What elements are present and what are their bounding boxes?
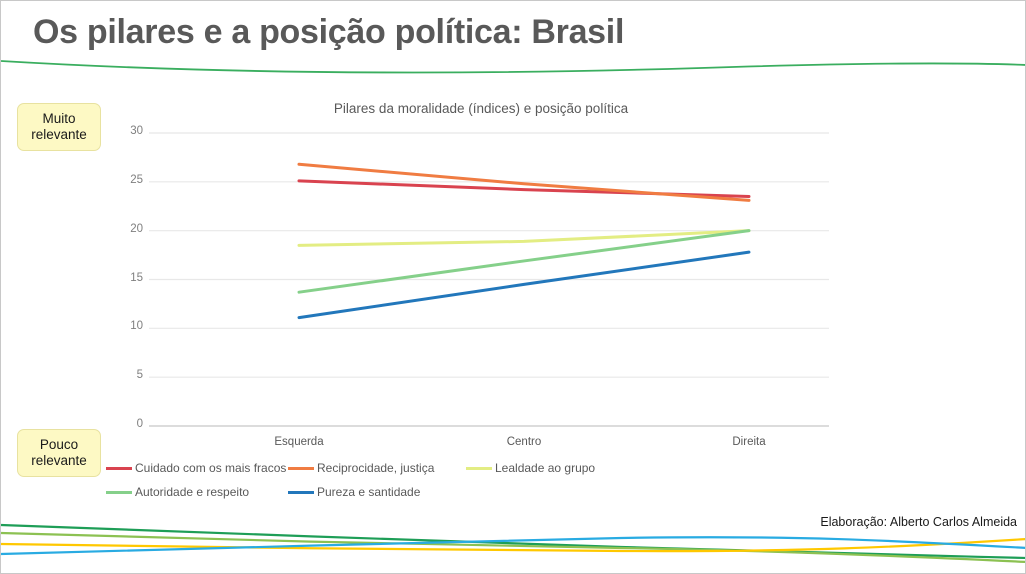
slide-canvas: Os pilares e a posição política: Brasil … [0,0,1026,574]
y-axis-tick-label: 30 [109,125,143,137]
footer-decorative-waves [1,501,1026,574]
legend-label-2: Lealdade ao grupo [495,461,595,475]
legend-item-3[interactable]: Autoridade e respeito [106,485,249,499]
legend-item-2[interactable]: Lealdade ao grupo [466,461,595,475]
legend-item-1[interactable]: Reciprocidade, justiça [288,461,434,475]
legend-swatch-4 [288,491,314,494]
credit-text: Elaboração: Alberto Carlos Almeida [820,515,1017,529]
page-title: Os pilares e a posição política: Brasil [33,13,624,52]
legend-row: Autoridade e respeitoPureza e santidade [106,482,726,502]
x-axis-tick-label-esquerda: Esquerda [239,436,359,448]
legend-swatch-2 [466,467,492,470]
callout-muito-relevante-line2: relevante [31,127,87,143]
x-axis-tick-label-centro: Centro [464,436,584,448]
legend-label-0: Cuidado com os mais fracos [135,461,286,475]
callout-muito-relevante-line1: Muito [31,111,87,127]
legend-label-3: Autoridade e respeito [135,485,249,499]
y-axis-tick-label: 10 [109,320,143,332]
chart-gridlines [149,133,829,426]
legend-item-0[interactable]: Cuidado com os mais fracos [106,461,286,475]
line-chart: Pilares da moralidade (índices) e posiçã… [111,93,851,505]
legend-row: Cuidado com os mais fracosReciprocidade,… [106,458,726,478]
y-axis-tick-label: 5 [109,369,143,381]
legend-item-4[interactable]: Pureza e santidade [288,485,420,499]
chart-series-lines [299,164,749,317]
y-axis-tick-label: 15 [109,272,143,284]
callout-pouco-relevante: Pouco relevante [17,429,101,477]
legend-swatch-0 [106,467,132,470]
y-axis-tick-label: 20 [109,223,143,235]
chart-legend: Cuidado com os mais fracosReciprocidade,… [106,458,726,506]
slide-header: Os pilares e a posição política: Brasil [1,1,1026,71]
y-axis-tick-label: 25 [109,174,143,186]
legend-label-1: Reciprocidade, justiça [317,461,434,475]
legend-label-4: Pureza e santidade [317,485,420,499]
legend-swatch-1 [288,467,314,470]
callout-pouco-relevante-line2: relevante [31,453,87,469]
callout-muito-relevante: Muito relevante [17,103,101,151]
callout-pouco-relevante-line1: Pouco [31,437,87,453]
legend-swatch-3 [106,491,132,494]
y-axis-tick-label: 0 [109,418,143,430]
x-axis-tick-label-direita: Direita [689,436,809,448]
series-line-2 [299,231,749,246]
